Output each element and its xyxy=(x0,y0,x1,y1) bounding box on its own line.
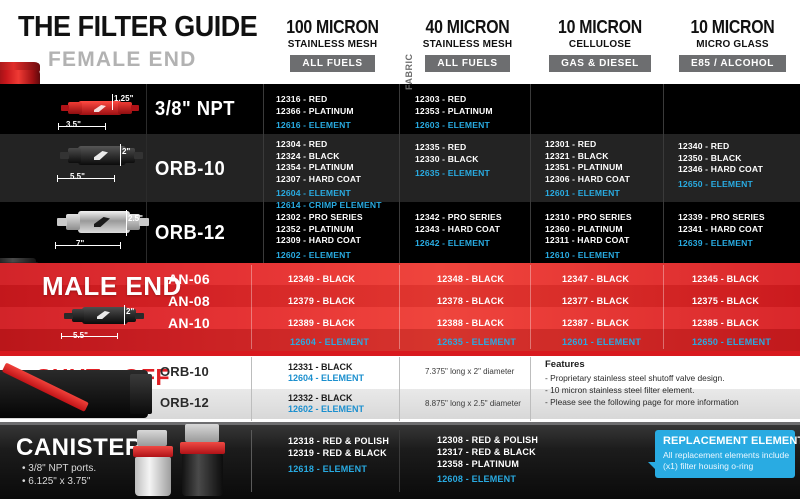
dimension-length: 7" xyxy=(76,239,84,248)
part-number: 12304 - RED xyxy=(276,139,382,151)
part-number-element: 12614 - CRIMP ELEMENT xyxy=(276,200,382,212)
cell-npt-100micron: 12316 - RED 12366 - PLATINUM 12616 - ELE… xyxy=(276,94,354,132)
part-number-element: 12604 - ELEMENT xyxy=(290,337,369,347)
part-number-element: 12603 - ELEMENT xyxy=(415,120,493,132)
part-number: 12343 - HARD COAT xyxy=(415,224,502,236)
canister-bullet: • 6.125" x 3.75" xyxy=(22,476,90,487)
part-number: 12308 - RED & POLISH xyxy=(437,435,538,445)
part-number: 12345 - BLACK xyxy=(692,274,759,284)
product-image-orb12-filter xyxy=(56,208,154,240)
section-title-canister: CANISTER xyxy=(16,434,143,462)
part-number: 12349 - BLACK xyxy=(288,274,355,284)
column-header-10-micron-cellulose: 10 MICRON CELLULOSE GAS & DIESEL xyxy=(530,18,670,72)
part-number: 12309 - HARD COAT xyxy=(276,235,363,247)
row-label-orb12: ORB-12 xyxy=(155,222,225,245)
column-fuel-badge: E85 / ALCOHOL xyxy=(679,55,786,72)
dimension-length: 5.5" xyxy=(70,172,85,181)
part-number-element: 12608 - ELEMENT xyxy=(437,474,516,484)
part-number-element: 12642 - ELEMENT xyxy=(415,238,502,250)
column-micron-label: 10 MICRON xyxy=(673,18,792,37)
column-divider xyxy=(530,265,531,349)
row-label-orb10: ORB-10 xyxy=(155,158,225,181)
part-number-element: 12650 - ELEMENT xyxy=(692,337,771,347)
section-subtitle-female-end: FEMALE END xyxy=(48,48,268,72)
part-number: 12306 - HARD COAT xyxy=(545,174,630,186)
male-end-section: MALE END 5.5" 2" AN-06 AN-08 AN-10 12349… xyxy=(0,263,800,351)
row-label-shutoff-orb12: ORB-12 xyxy=(160,395,209,410)
column-header-10-micron-micro-glass: 10 MICRON MICRO GLASS E85 / ALCOHOL xyxy=(665,18,800,72)
product-image-shutoff-endcap xyxy=(130,374,152,414)
column-divider xyxy=(399,430,400,492)
column-divider xyxy=(251,357,252,421)
dimension-text: 7.375" long x 2" diameter xyxy=(425,367,514,376)
dimension-length: 3.5" xyxy=(66,120,81,129)
row-label-npt: 3/8" NPT xyxy=(155,98,235,121)
part-number-element: 12650 - ELEMENT xyxy=(678,179,763,191)
part-number: 12341 - HARD COAT xyxy=(678,224,765,236)
column-divider xyxy=(251,430,252,492)
product-image-canister-black xyxy=(174,424,232,496)
cell-orb12-10micron-cellulose: 12310 - PRO SERIES 12360 - PLATINUM 1231… xyxy=(545,212,632,261)
part-number-element: 12616 - ELEMENT xyxy=(276,120,354,132)
cell-orb10-100micron: 12304 - RED 12324 - BLACK 12354 - PLATIN… xyxy=(276,139,382,211)
part-number-element: 12604 - ELEMENT xyxy=(276,188,382,200)
section-divider-gray xyxy=(0,422,800,425)
row-label-an08: AN-08 xyxy=(168,293,210,309)
part-number: 12310 - PRO SERIES xyxy=(545,212,632,224)
column-divider xyxy=(251,265,252,349)
part-number: 12302 - PRO SERIES xyxy=(276,212,363,224)
part-number-element: 12635 - ELEMENT xyxy=(437,337,516,347)
female-end-table: 3.5" 1.25" 3/8" NPT 12316 - RED 12366 - … xyxy=(0,84,800,263)
column-divider xyxy=(663,265,664,349)
part-number: 12347 - BLACK xyxy=(562,274,629,284)
column-divider xyxy=(399,265,400,349)
cell-npt-40micron: 12303 - RED 12353 - PLATINUM 12603 - ELE… xyxy=(415,94,493,132)
part-number: 12335 - RED xyxy=(415,142,490,154)
part-number-element: 12601 - ELEMENT xyxy=(562,337,641,347)
filter-guide-page: THE FILTER GUIDE FEMALE END 100 MICRON S… xyxy=(0,0,800,499)
part-number: 12375 - BLACK xyxy=(692,296,759,306)
column-media-label: STAINLESS MESH xyxy=(403,38,531,51)
column-media-label: STAINLESS MESH xyxy=(268,38,396,51)
column-divider xyxy=(530,357,531,421)
part-number: 12316 - RED xyxy=(276,94,354,106)
cell-orb10-40micron: 12335 - RED 12330 - BLACK 12635 - ELEMEN… xyxy=(415,142,490,180)
column-divider xyxy=(530,84,531,263)
part-number: 12352 - PLATINUM xyxy=(276,224,363,236)
part-number: 12385 - BLACK xyxy=(692,318,759,328)
product-image-canister-polish xyxy=(127,430,179,496)
part-number: 12378 - BLACK xyxy=(437,296,504,306)
cell-orb10-10micron-microglass: 12340 - RED 12350 - BLACK 12346 - HARD C… xyxy=(678,141,763,190)
column-divider xyxy=(399,84,400,263)
part-number: 12318 - RED & POLISH xyxy=(288,436,389,446)
column-header-40-micron: 40 MICRON STAINLESS MESH ALL FUELS xyxy=(400,18,535,72)
cell-orb12-100micron: 12302 - PRO SERIES 12352 - PLATINUM 1230… xyxy=(276,212,363,261)
part-number: 12388 - BLACK xyxy=(437,318,504,328)
column-fuel-badge: GAS & DIESEL xyxy=(549,55,651,72)
product-image-male-end-filter xyxy=(62,303,154,331)
part-number: 12346 - HARD COAT xyxy=(678,164,763,176)
feature-item: - Please see the following page for more… xyxy=(545,397,739,407)
part-number: 12351 - PLATINUM xyxy=(545,162,630,174)
part-number: 12307 - HARD COAT xyxy=(276,174,382,186)
part-number-element: 12635 - ELEMENT xyxy=(415,168,490,180)
part-number: 12354 - PLATINUM xyxy=(276,162,382,174)
column-header-100-micron: 100 MICRON STAINLESS MESH ALL FUELS xyxy=(265,18,400,72)
part-number: 12301 - RED xyxy=(545,139,630,151)
part-number: 12332 - BLACK xyxy=(288,393,353,403)
section-title-male-end: MALE END xyxy=(42,271,182,302)
part-number-element: 12639 - ELEMENT xyxy=(678,238,765,250)
column-micron-label: 100 MICRON xyxy=(273,18,392,37)
row-label-shutoff-orb10: ORB-10 xyxy=(160,364,209,379)
section-divider-red xyxy=(0,351,800,356)
column-divider xyxy=(263,84,264,263)
part-number: 12353 - PLATINUM xyxy=(415,106,493,118)
canister-bullet: • 3/8" NPT ports. xyxy=(22,463,96,474)
part-number-element: 12618 - ELEMENT xyxy=(288,464,367,474)
features-heading: Features xyxy=(545,359,585,370)
dimension-length: 5.5" xyxy=(73,331,88,340)
part-number-element: 12602 - ELEMENT xyxy=(276,250,363,262)
dimension-height: 2.5" xyxy=(128,214,143,223)
part-number: 12331 - BLACK xyxy=(288,362,353,372)
part-number-element: 12601 - ELEMENT xyxy=(545,188,630,200)
feature-item: - Proprietary stainless steel shutoff va… xyxy=(545,373,725,383)
part-number: 12389 - BLACK xyxy=(288,318,355,328)
column-media-label: MICRO GLASS xyxy=(668,38,796,51)
column-divider xyxy=(663,84,664,263)
title-block: THE FILTER GUIDE FEMALE END xyxy=(18,12,268,72)
part-number: 12317 - RED & BLACK xyxy=(437,447,536,457)
dimension-height: 2" xyxy=(126,307,134,316)
part-number: 12339 - PRO SERIES xyxy=(678,212,765,224)
dimension-height: 2" xyxy=(122,147,130,156)
part-number: 12358 - PLATINUM xyxy=(437,459,519,469)
part-number-element: 12602 - ELEMENT xyxy=(288,404,364,414)
part-number: 12319 - RED & BLACK xyxy=(288,448,387,458)
dimension-height: 1.25" xyxy=(114,94,133,103)
cell-orb10-10micron-cellulose: 12301 - RED 12321 - BLACK 12351 - PLATIN… xyxy=(545,139,630,200)
cell-orb12-40micron: 12342 - PRO SERIES 12343 - HARD COAT 126… xyxy=(415,212,502,250)
part-number: 12340 - RED xyxy=(678,141,763,153)
part-number: 12303 - RED xyxy=(415,94,493,106)
column-micron-label: 40 MICRON xyxy=(408,18,527,37)
cell-orb12-10micron-microglass: 12339 - PRO SERIES 12341 - HARD COAT 126… xyxy=(678,212,765,250)
part-number: 12350 - BLACK xyxy=(678,153,763,165)
column-media-label: CELLULOSE xyxy=(534,38,667,51)
callout-body: All replacement elements include (x1) fi… xyxy=(663,450,791,471)
callout-title: REPLACEMENT ELEMENTS xyxy=(663,435,800,447)
part-number: 12379 - BLACK xyxy=(288,296,355,306)
table-row xyxy=(0,329,800,351)
part-number-element: 12604 - ELEMENT xyxy=(288,373,364,383)
part-number: 12324 - BLACK xyxy=(276,151,382,163)
dimension-text: 8.875" long x 2.5" diameter xyxy=(425,399,521,408)
fabric-vertical-label: FABRIC xyxy=(404,54,414,91)
column-divider xyxy=(399,357,400,421)
part-number: 12366 - PLATINUM xyxy=(276,106,354,118)
replacement-elements-callout: REPLACEMENT ELEMENTS All replacement ele… xyxy=(655,430,795,478)
part-number: 12348 - BLACK xyxy=(437,274,504,284)
part-number: 12321 - BLACK xyxy=(545,151,630,163)
column-fuel-badge: ALL FUELS xyxy=(290,55,374,72)
row-label-an10: AN-10 xyxy=(168,315,210,331)
feature-item: - 10 micron stainless steel filter eleme… xyxy=(545,385,694,395)
page-title: THE FILTER GUIDE xyxy=(18,12,251,42)
product-image-orb10-filter xyxy=(58,142,150,172)
part-number: 12311 - HARD COAT xyxy=(545,235,632,247)
row-label-an06: AN-06 xyxy=(168,271,210,287)
part-number: 12387 - BLACK xyxy=(562,318,629,328)
part-number-element: 12610 - ELEMENT xyxy=(545,250,632,262)
part-number: 12360 - PLATINUM xyxy=(545,224,632,236)
part-number: 12330 - BLACK xyxy=(415,154,490,166)
part-number: 12377 - BLACK xyxy=(562,296,629,306)
column-micron-label: 10 MICRON xyxy=(538,18,661,37)
column-fuel-badge: ALL FUELS xyxy=(425,55,509,72)
part-number: 12342 - PRO SERIES xyxy=(415,212,502,224)
